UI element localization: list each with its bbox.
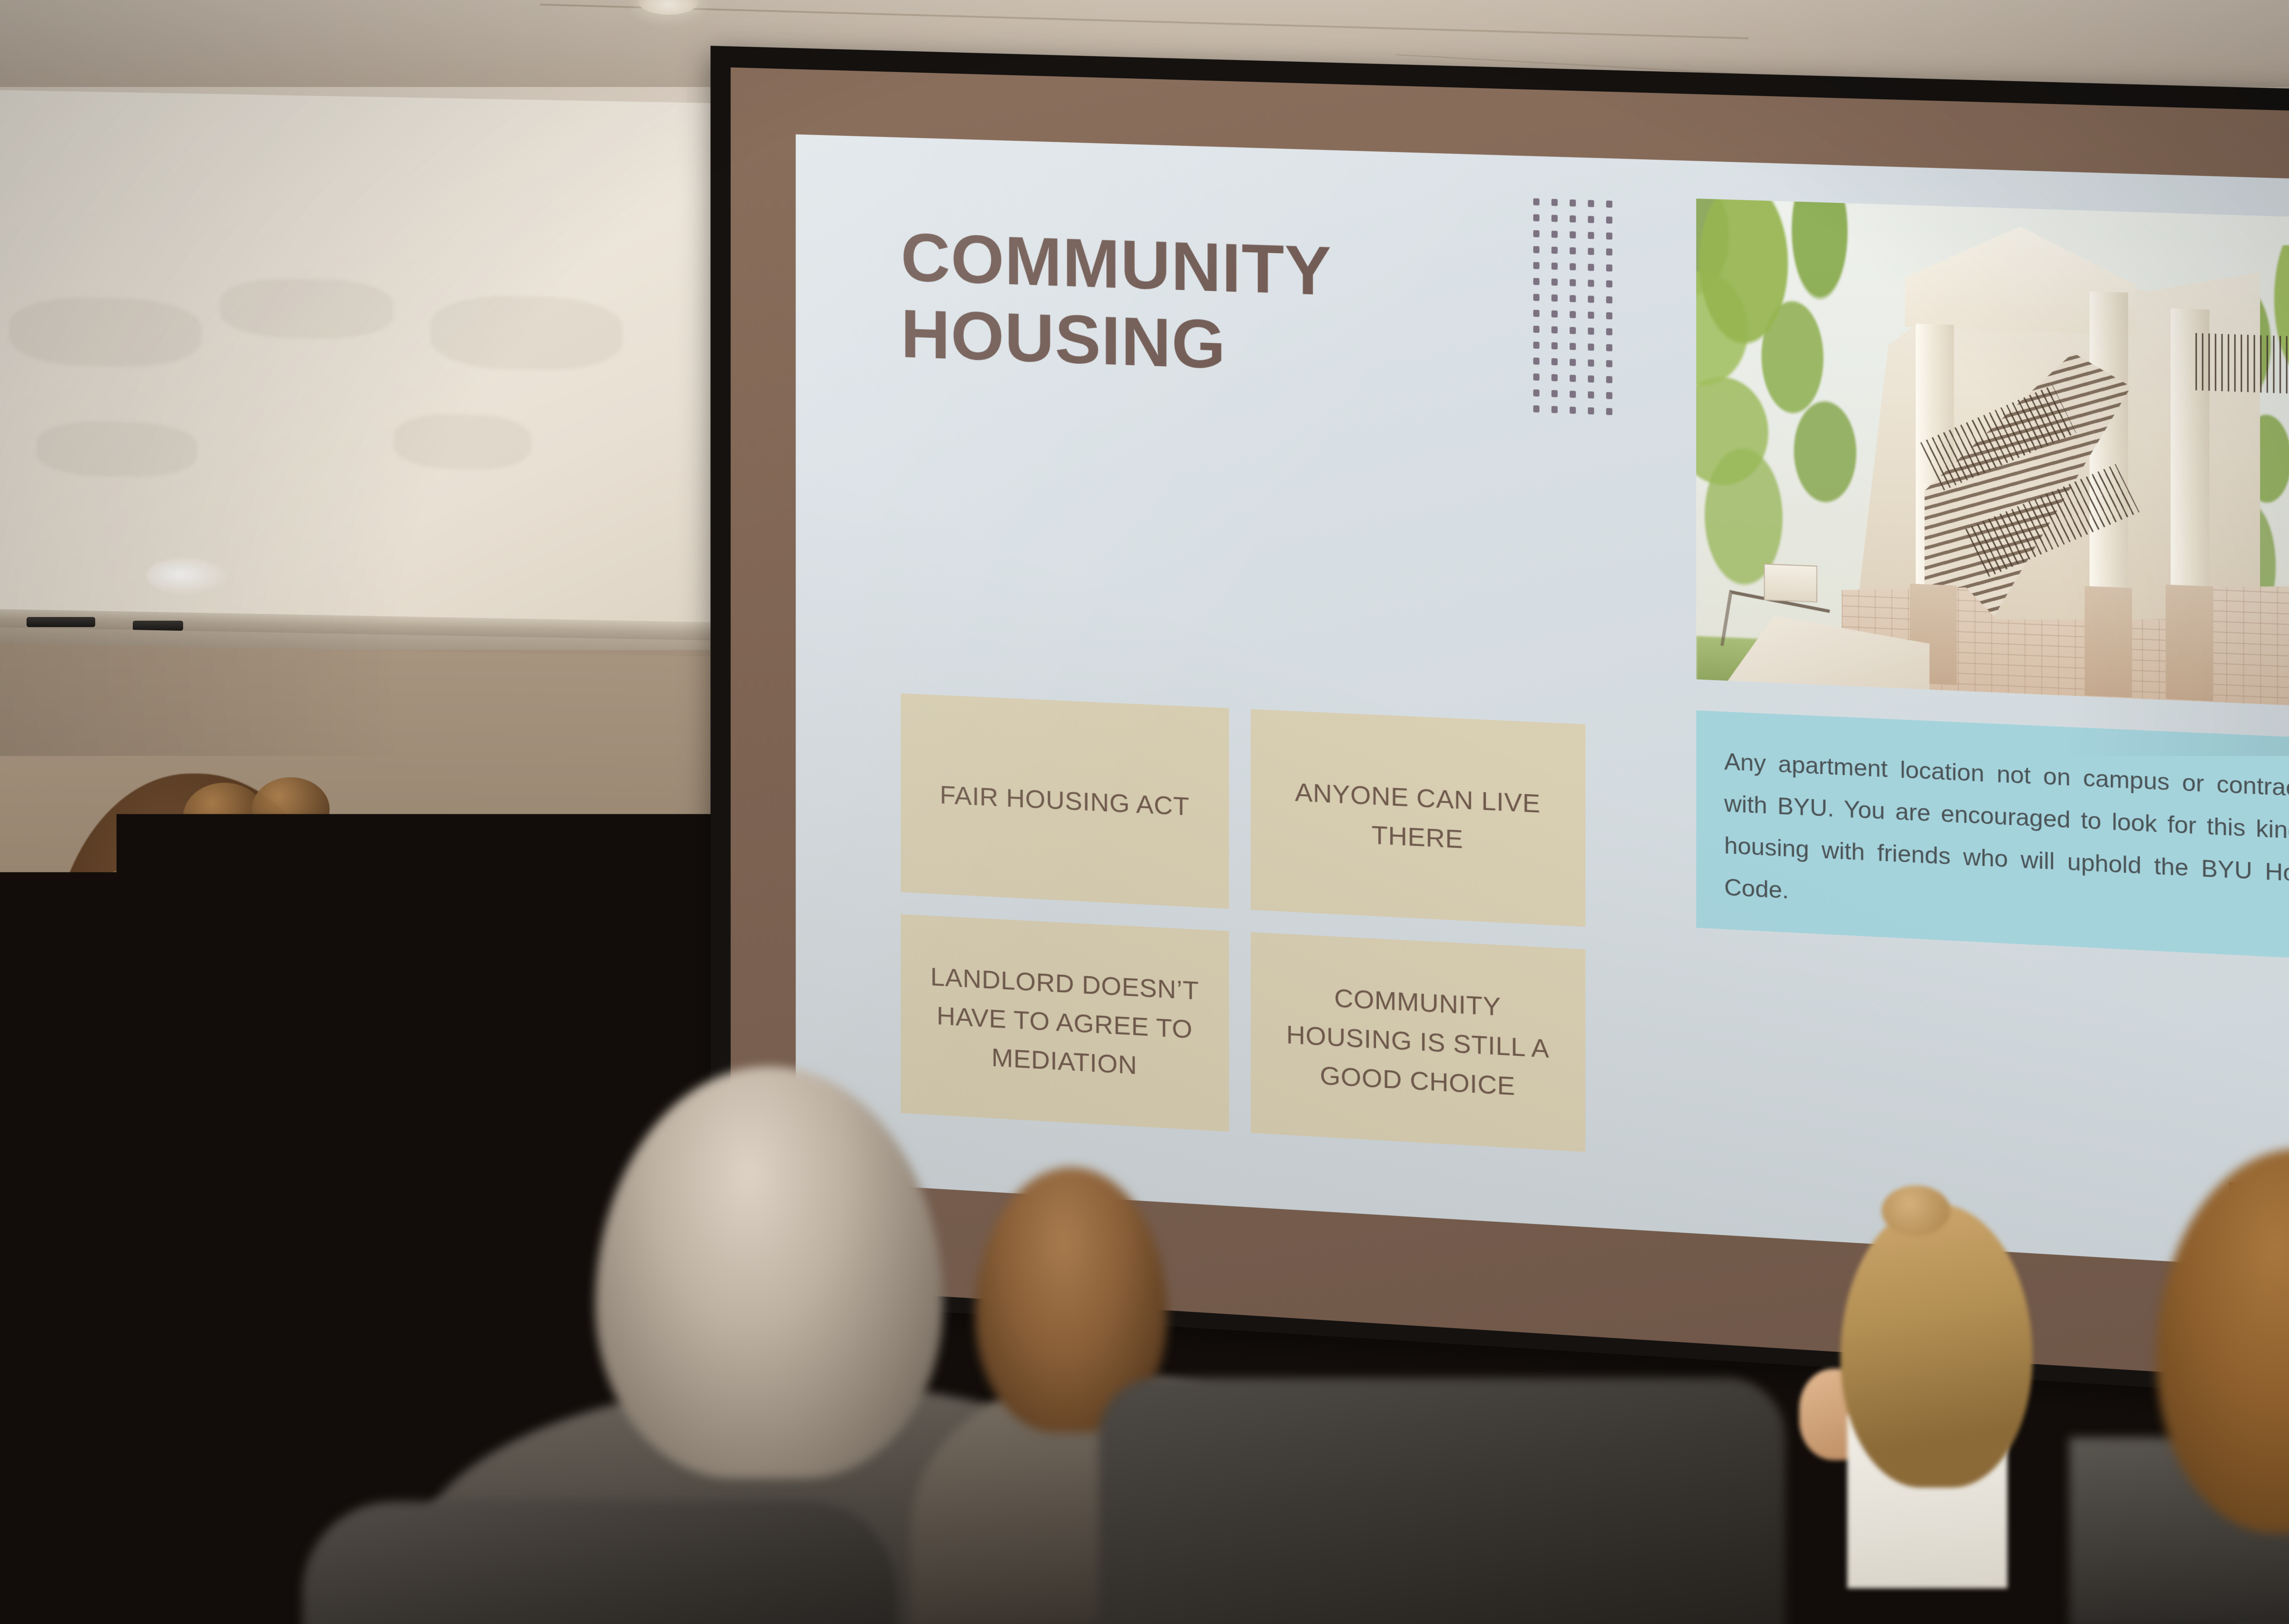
info-box-landlord-mediation[interactable]: LANDLORD DOESN’T HAVE TO AGREE TO MEDIAT… bbox=[901, 914, 1229, 1131]
apartment-building-photo bbox=[1696, 199, 2289, 709]
callout-community-housing-definition: Any apartment location not on campus or … bbox=[1696, 710, 2289, 961]
presenter-lips bbox=[261, 932, 298, 943]
info-box-good-choice[interactable]: COMMUNITY HOUSING IS STILL A GOOD CHOICE bbox=[1251, 932, 1585, 1152]
whiteboard bbox=[0, 90, 723, 646]
info-box-fair-housing-act[interactable]: FAIR HOUSING ACT bbox=[901, 693, 1229, 909]
presentation-slide: COMMUNITY HOUSING bbox=[796, 134, 2289, 1278]
auditorium-seat bbox=[302, 1501, 897, 1624]
whiteboard-marker bbox=[27, 617, 95, 627]
slide-title: COMMUNITY HOUSING bbox=[901, 219, 1454, 392]
audience-member-hair-bun bbox=[1882, 1186, 1950, 1236]
projection-screen: COMMUNITY HOUSING bbox=[711, 46, 2289, 1410]
auditorium-seat-row bbox=[1259, 1442, 2220, 1624]
lapel-microphone bbox=[307, 1213, 325, 1241]
building-sign bbox=[1764, 563, 1817, 602]
presenter-earring bbox=[195, 926, 209, 944]
lecture-hall-scene: COMMUNITY HOUSING bbox=[0, 0, 2289, 1624]
info-box-anyone-can-live-there[interactable]: ANYONE CAN LIVE THERE bbox=[1251, 709, 1585, 927]
whiteboard-glare bbox=[146, 558, 227, 595]
whiteboard-marker bbox=[133, 621, 183, 631]
presenter-nose bbox=[279, 893, 297, 916]
dot-grid-decoration bbox=[1527, 198, 1618, 426]
ceiling-seam bbox=[540, 4, 1748, 39]
